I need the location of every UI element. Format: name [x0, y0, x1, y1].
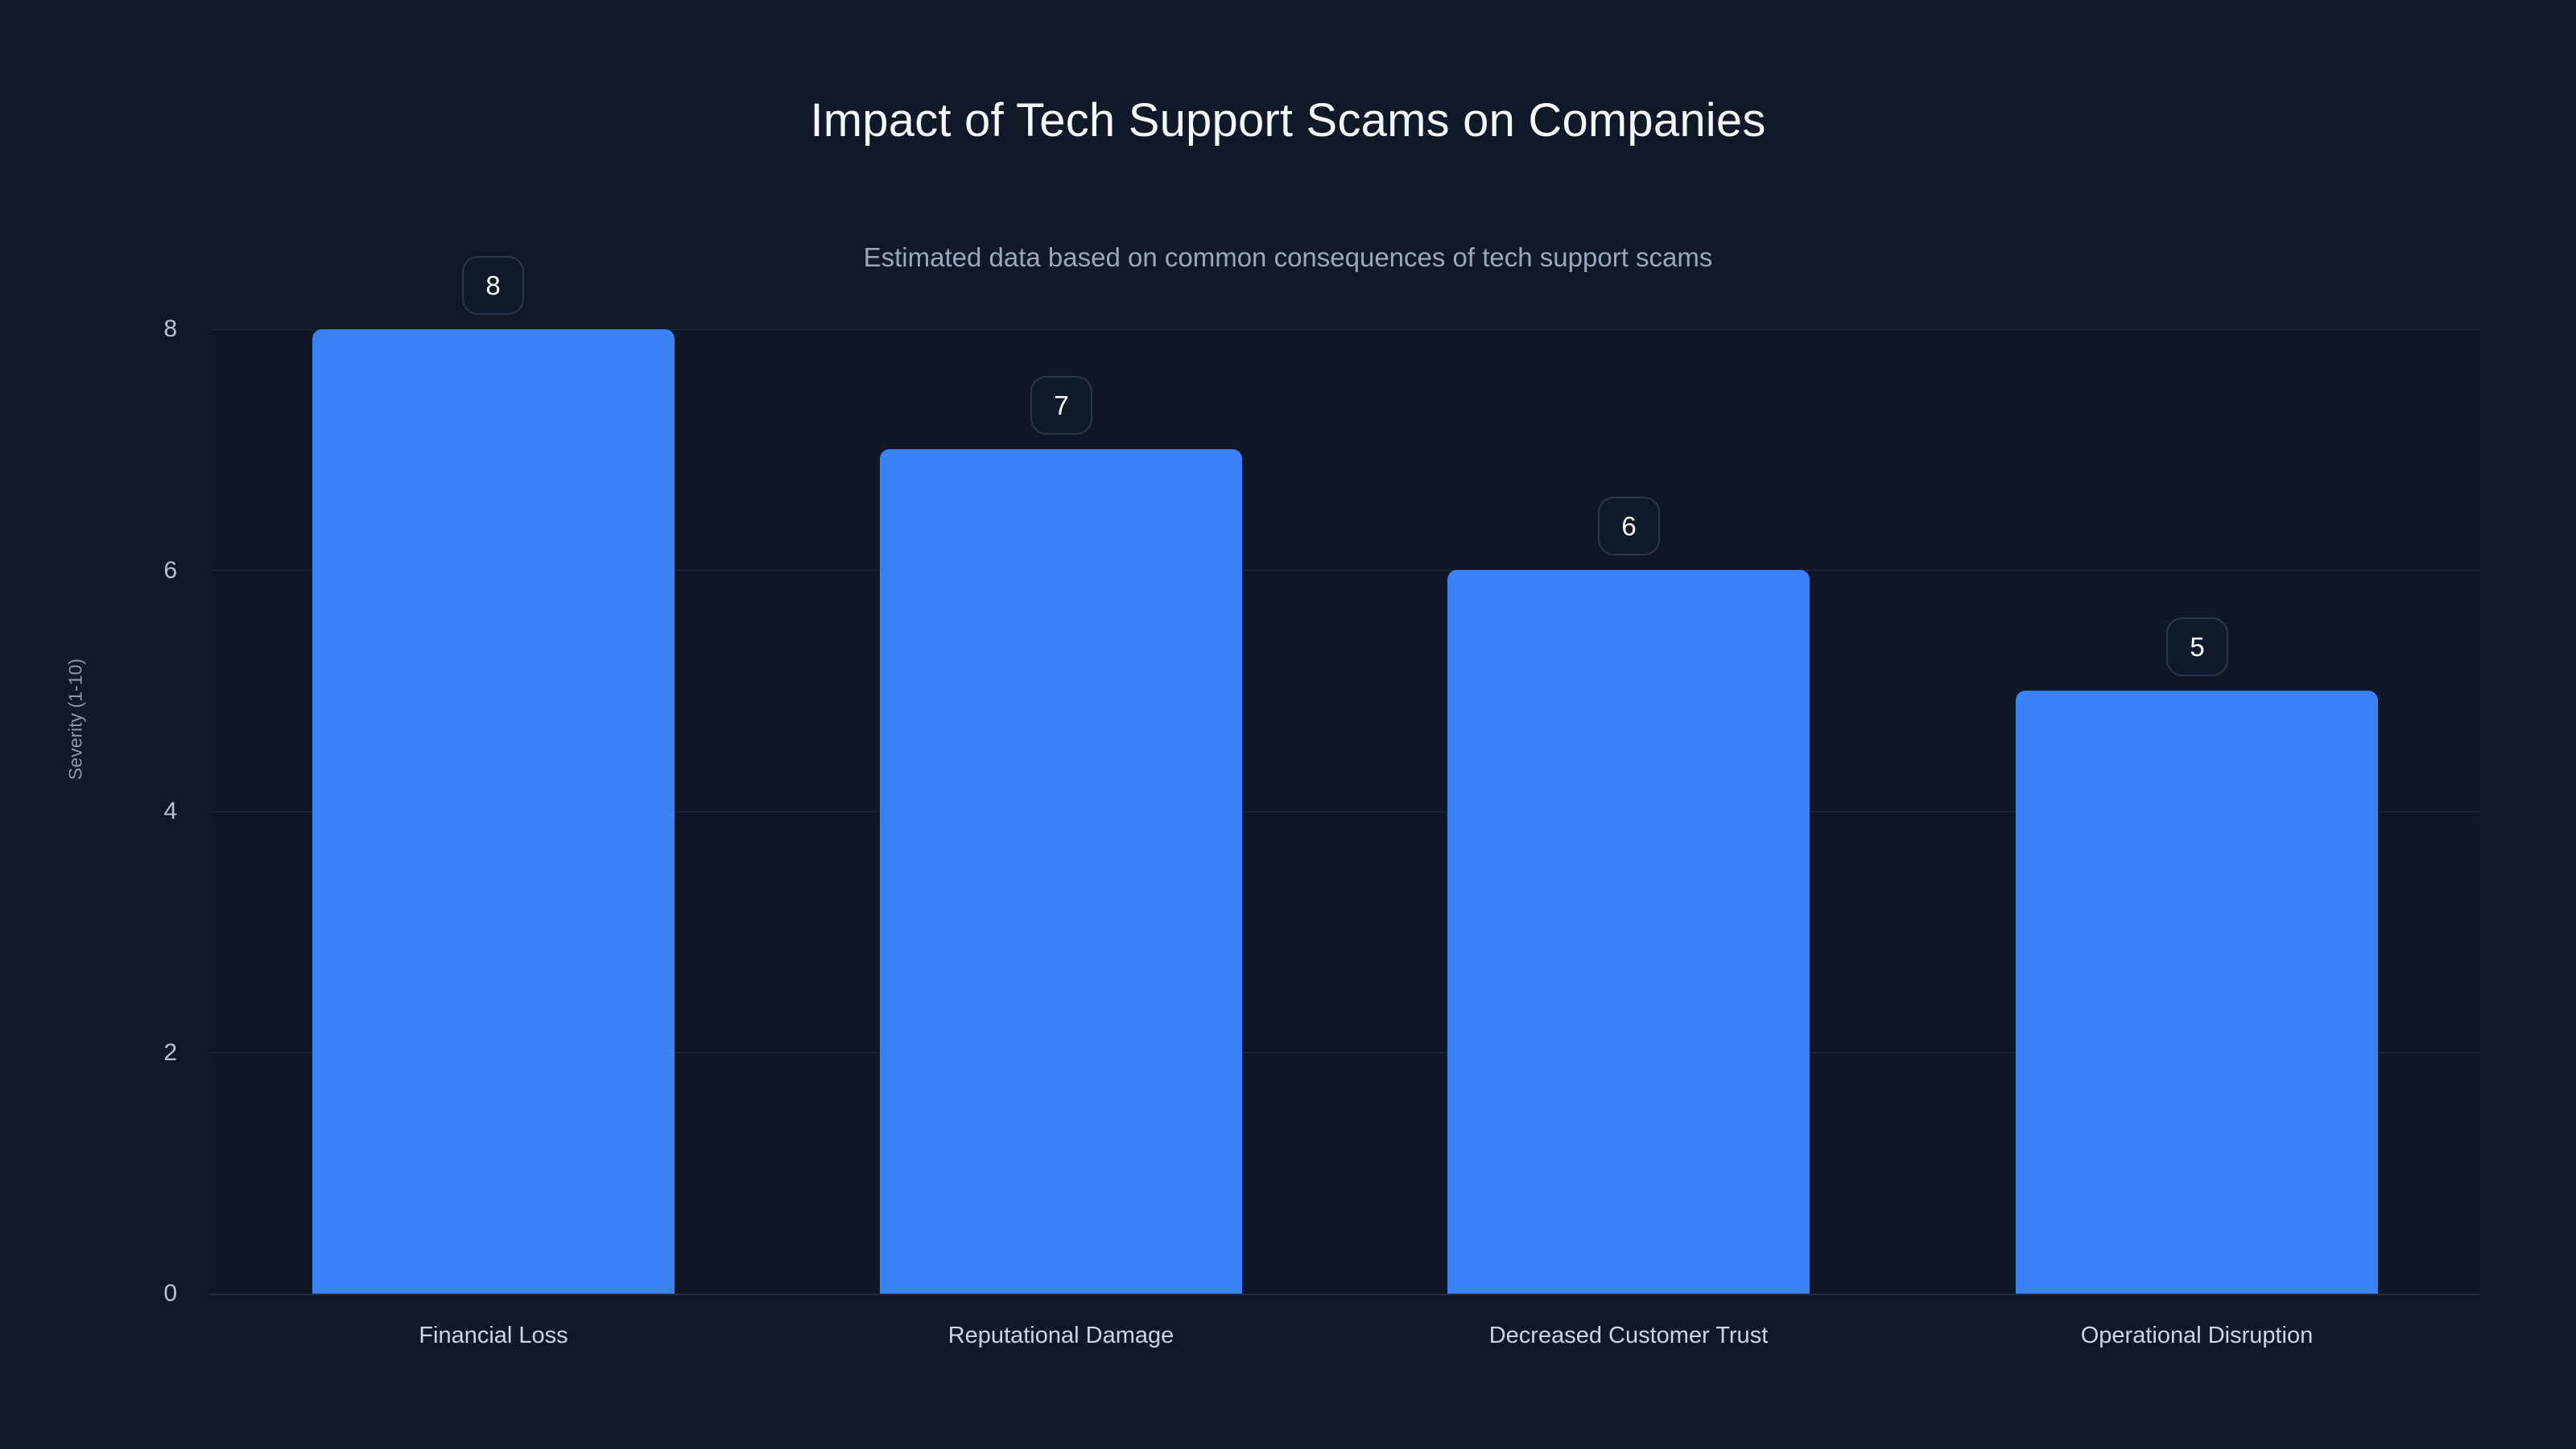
bar-operational-disruption[interactable]	[2016, 691, 2378, 1294]
chart-title: Impact of Tech Support Scams on Companie…	[0, 95, 2576, 147]
value-badge-reputational-damage: 7	[1030, 376, 1092, 435]
value-badge-financial-loss: 8	[462, 256, 524, 315]
value-badge-operational-disruption: 5	[2166, 617, 2228, 676]
x-tick-label-operational-disruption: Operational Disruption	[1996, 1323, 2398, 1349]
x-axis-baseline	[210, 1294, 2479, 1295]
x-tick-label-decreased-customer-trust: Decreased Customer Trust	[1427, 1323, 1830, 1349]
x-tick-label-financial-loss: Financial Loss	[292, 1323, 695, 1349]
y-tick-label-8: 8	[105, 317, 177, 341]
y-tick-label-6: 6	[105, 559, 177, 583]
value-badge-decreased-customer-trust: 6	[1598, 497, 1660, 555]
bar-decreased-customer-trust[interactable]	[1447, 570, 1810, 1294]
x-tick-label-reputational-damage: Reputational Damage	[860, 1323, 1262, 1349]
chart-subtitle: Estimated data based on common consequen…	[0, 242, 2576, 274]
bar-reputational-damage[interactable]	[880, 449, 1242, 1294]
y-tick-label-0: 0	[105, 1282, 177, 1306]
y-tick-label-4: 4	[105, 799, 177, 824]
bar-chart-figure: Impact of Tech Support Scams on Companie…	[0, 0, 2576, 1449]
y-tick-label-2: 2	[105, 1041, 177, 1065]
bar-financial-loss[interactable]	[312, 329, 675, 1294]
y-axis-title: Severity (1-10)	[65, 639, 87, 800]
